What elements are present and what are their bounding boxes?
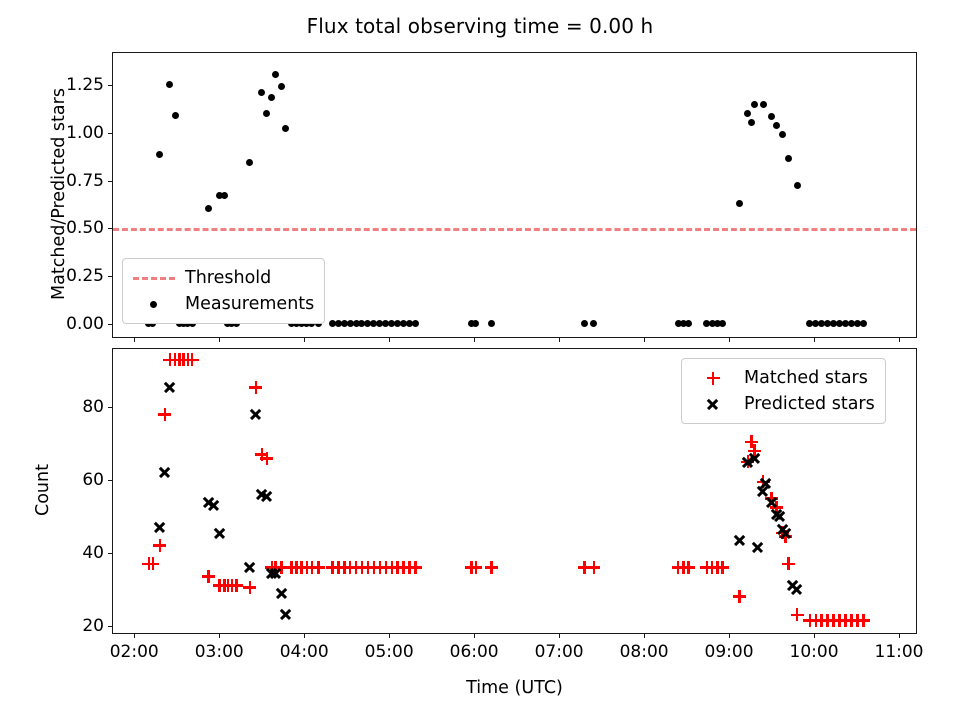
data-point-marker — [751, 101, 758, 108]
x-tick-label: 08:00 — [620, 642, 669, 662]
data-point-marker — [773, 122, 780, 129]
data-point-marker — [488, 320, 495, 327]
data-point-marker — [581, 320, 588, 327]
x-tick-label: 03:00 — [195, 642, 244, 662]
legend-item-threshold[interactable]: Threshold — [131, 265, 314, 291]
legend-label-measurements: Measurements — [177, 294, 314, 314]
data-point-marker — [785, 155, 792, 162]
x-tick-mark — [729, 633, 730, 638]
matched-stars-plus-icon — [690, 368, 736, 388]
figure-title: Flux total observing time = 0.00 h — [0, 14, 960, 38]
data-point-marker — [272, 71, 279, 78]
ratio-plot-legend: Threshold Measurements — [122, 258, 325, 324]
x-tick-mark — [899, 337, 900, 342]
x-tick-mark — [389, 633, 390, 638]
y-tick-label: 0.75 — [66, 171, 104, 191]
y-tick-mark — [108, 228, 113, 229]
data-point-marker — [760, 101, 767, 108]
data-point-marker — [779, 131, 786, 138]
x-tick-mark — [559, 633, 560, 638]
x-tick-mark — [304, 337, 305, 342]
data-point-marker — [278, 83, 285, 90]
data-point-marker — [221, 192, 228, 199]
predicted-stars-cross-icon — [690, 394, 736, 414]
x-tick-label: 10:00 — [790, 642, 839, 662]
x-tick-mark — [559, 337, 560, 342]
data-point-marker — [246, 159, 253, 166]
y-tick-mark — [108, 407, 113, 408]
y-tick-mark — [108, 626, 113, 627]
legend-label-threshold: Threshold — [177, 268, 271, 288]
data-point-marker — [205, 205, 212, 212]
x-tick-mark — [389, 337, 390, 342]
data-point-marker — [860, 320, 867, 327]
y-tick-label: 40 — [82, 543, 104, 563]
y-tick-label: 0.00 — [66, 314, 104, 334]
y-tick-label: 20 — [82, 616, 104, 636]
data-point-marker — [166, 81, 173, 88]
data-point-marker — [282, 125, 289, 132]
legend-item-matched-stars[interactable]: Matched stars — [690, 365, 875, 391]
legend-label-matched-stars: Matched stars — [736, 368, 868, 388]
x-tick-label: 11:00 — [875, 642, 924, 662]
ratio-y-axis-label: Matched/Predicted stars — [49, 51, 69, 337]
count-plot-legend: Matched stars Predicted stars — [681, 358, 886, 424]
x-tick-mark — [644, 633, 645, 638]
time-x-axis-label: Time (UTC) — [112, 678, 917, 698]
data-point-marker — [794, 182, 801, 189]
count-y-axis-label: Count — [33, 347, 53, 633]
y-tick-label: 60 — [82, 470, 104, 490]
x-tick-mark — [814, 337, 815, 342]
y-tick-mark — [108, 324, 113, 325]
legend-label-predicted-stars: Predicted stars — [736, 394, 875, 414]
y-tick-label: 80 — [82, 397, 104, 417]
x-tick-mark — [729, 337, 730, 342]
y-tick-label: 0.50 — [66, 218, 104, 238]
threshold-line — [113, 228, 916, 231]
data-point-marker — [744, 110, 751, 117]
x-tick-mark — [899, 633, 900, 638]
x-tick-mark — [304, 633, 305, 638]
data-point-marker — [412, 320, 419, 327]
x-tick-mark — [219, 633, 220, 638]
y-tick-label: 1.00 — [66, 123, 104, 143]
y-tick-label: 1.25 — [66, 75, 104, 95]
x-tick-mark — [134, 633, 135, 638]
x-tick-label: 09:00 — [705, 642, 754, 662]
measurements-dot-icon — [131, 294, 177, 314]
x-tick-mark — [474, 633, 475, 638]
legend-item-predicted-stars[interactable]: Predicted stars — [690, 391, 875, 417]
y-tick-mark — [108, 553, 113, 554]
data-point-marker — [685, 320, 692, 327]
data-point-marker — [172, 112, 179, 119]
legend-item-measurements[interactable]: Measurements — [131, 291, 314, 317]
data-point-marker — [719, 320, 726, 327]
x-tick-label: 05:00 — [365, 642, 414, 662]
x-tick-mark — [134, 337, 135, 342]
x-tick-mark — [219, 337, 220, 342]
x-tick-mark — [474, 337, 475, 342]
data-point-marker — [736, 200, 743, 207]
figure-canvas: Flux total observing time = 0.00 h 0.000… — [0, 0, 960, 720]
x-tick-mark — [814, 633, 815, 638]
x-tick-label: 04:00 — [280, 642, 329, 662]
y-tick-mark — [108, 276, 113, 277]
x-tick-label: 02:00 — [110, 642, 159, 662]
data-point-marker — [748, 119, 755, 126]
data-point-marker — [590, 320, 597, 327]
x-tick-mark — [644, 337, 645, 342]
data-point-marker — [263, 110, 270, 117]
x-tick-label: 07:00 — [535, 642, 584, 662]
data-point-marker — [268, 94, 275, 101]
y-tick-mark — [108, 133, 113, 134]
data-point-marker — [258, 89, 265, 96]
data-point-marker — [472, 320, 479, 327]
y-tick-mark — [108, 85, 113, 86]
x-tick-label: 06:00 — [450, 642, 499, 662]
threshold-dashed-line-icon — [131, 268, 177, 288]
y-tick-mark — [108, 480, 113, 481]
data-point-marker — [768, 113, 775, 120]
data-point-marker — [156, 151, 163, 158]
y-tick-mark — [108, 181, 113, 182]
y-tick-label: 0.25 — [66, 266, 104, 286]
